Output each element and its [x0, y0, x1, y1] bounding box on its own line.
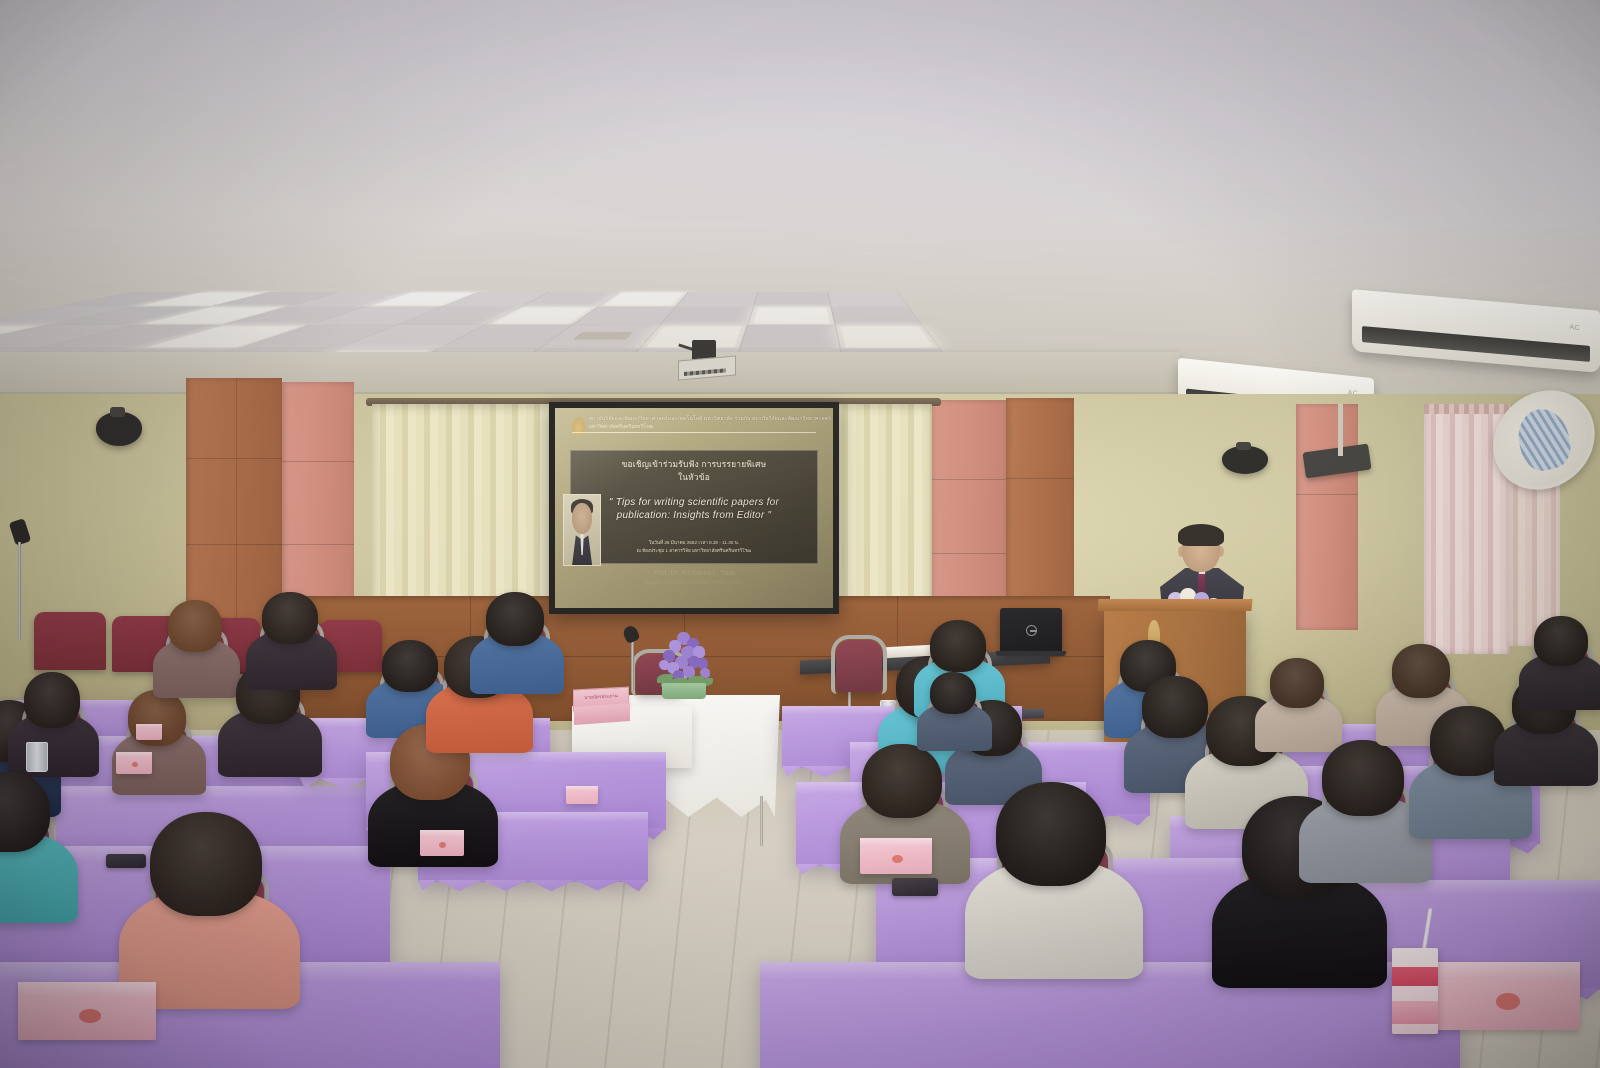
slide-speaker-affiliation: Rutgers, The State University of New Jer…	[572, 579, 817, 587]
slide-when-line2: ณ ห้องประชุม 1 อาคารวิจัย มหาวิทยาลัยศรี…	[596, 547, 792, 554]
juice-box	[1392, 948, 1438, 1034]
slide-header: สถาบันวิจัยและพัฒนาวิทยาศาสตร์และเทคโนโล…	[572, 416, 817, 433]
mobile-phone-left[interactable]	[106, 854, 146, 868]
audience-head	[262, 592, 318, 644]
audience-member	[486, 592, 572, 716]
wall-speaker-left	[96, 412, 142, 446]
laptop-logo-icon	[1026, 625, 1037, 636]
audience-head	[1142, 676, 1208, 738]
mobile-phone[interactable]	[892, 878, 938, 896]
slide-header-line1: สถาบันวิจัยและพัฒนาวิทยาศาสตร์และเทคโนโล…	[589, 416, 817, 424]
audience-member	[0, 772, 78, 922]
violet-flower-arrangement	[655, 630, 715, 688]
violet-blossom	[659, 660, 669, 670]
slide-content-panel: ขอเชิญเข้าร่วมรับฟัง การบรรยายพิเศษ ในหั…	[570, 450, 817, 564]
audience-member	[930, 672, 1004, 784]
audience-member	[262, 592, 346, 714]
wall-panel-pink-right	[1296, 404, 1358, 630]
audience-head	[382, 640, 438, 692]
slide-talk-title-line1: " Tips for writing scientific papers for	[581, 496, 807, 509]
slide-header-line2: มหาวิทยาลัยศรีนครินทรวิโรฒ	[589, 424, 817, 432]
glasses-icon	[1183, 545, 1219, 553]
slide-talk-title-line2: publication: Insights from Editor "	[581, 509, 807, 522]
cup-left	[26, 742, 48, 772]
flower-planter	[662, 683, 706, 699]
slide-speaker-photo	[563, 494, 601, 566]
slide-datetime: ในวันที่ 25 มีนาคม 2562 เวลา 8.30 - 11.3…	[596, 539, 792, 554]
audience-head	[486, 592, 544, 646]
snack-box-foreground-right	[1430, 962, 1580, 1030]
conference-room-photo: AC AC	[0, 0, 1600, 1068]
audience-head	[168, 600, 222, 652]
snack-box	[136, 724, 162, 740]
audience-member	[1534, 616, 1600, 736]
slide-invitation-line2: ในหัวข้อ	[591, 471, 797, 484]
snack-box	[116, 752, 152, 774]
slide-invitation: ขอเชิญเข้าร่วมรับฟัง การบรรยายพิเศษ ในหั…	[591, 458, 797, 484]
audience-head	[150, 812, 262, 916]
ceiling-projector-icon	[668, 340, 738, 380]
head-table-leg-2	[760, 796, 763, 846]
snack-box	[566, 786, 598, 804]
audience-head	[930, 620, 986, 672]
name-card-text: นามบัตรประธาน	[574, 693, 628, 703]
snack-box	[860, 838, 932, 874]
audience-member	[996, 782, 1134, 956]
audience-head	[996, 782, 1106, 886]
stage-chair-right[interactable]	[836, 640, 882, 692]
wall-fan-icon	[1492, 392, 1596, 488]
gooseneck-microphone	[624, 626, 642, 690]
slide-talk-title: " Tips for writing scientific papers for…	[581, 496, 807, 523]
slide-speaker-name: Prof. Dr. Kit Sachs L. Yam	[572, 568, 817, 579]
audience-head	[1392, 644, 1450, 698]
slide-contact: โทร. 02-649-5000	[572, 593, 817, 599]
slide-invitation-line1: ขอเชิญเข้าร่วมรับฟัง การบรรยายพิเศษ	[591, 458, 797, 471]
slide-speaker-block: Prof. Dr. Kit Sachs L. Yam Rutgers, The …	[572, 568, 817, 599]
audience-head	[24, 672, 80, 728]
snack-box	[420, 830, 464, 856]
audience-member	[150, 812, 290, 986]
audience-head	[1534, 616, 1588, 666]
audience-head	[1270, 658, 1324, 708]
snack-box-foreground	[18, 982, 156, 1040]
slide-when-line1: ในวันที่ 25 มีนาคม 2562 เวลา 8.30 - 11.3…	[596, 539, 792, 546]
projector-pole	[1338, 404, 1343, 456]
wall-speaker-right	[1222, 446, 1268, 474]
audience-head	[930, 672, 976, 714]
projection-screen: สถาบันวิจัยและพัฒนาวิทยาศาสตร์และเทคโนโล…	[549, 402, 839, 614]
